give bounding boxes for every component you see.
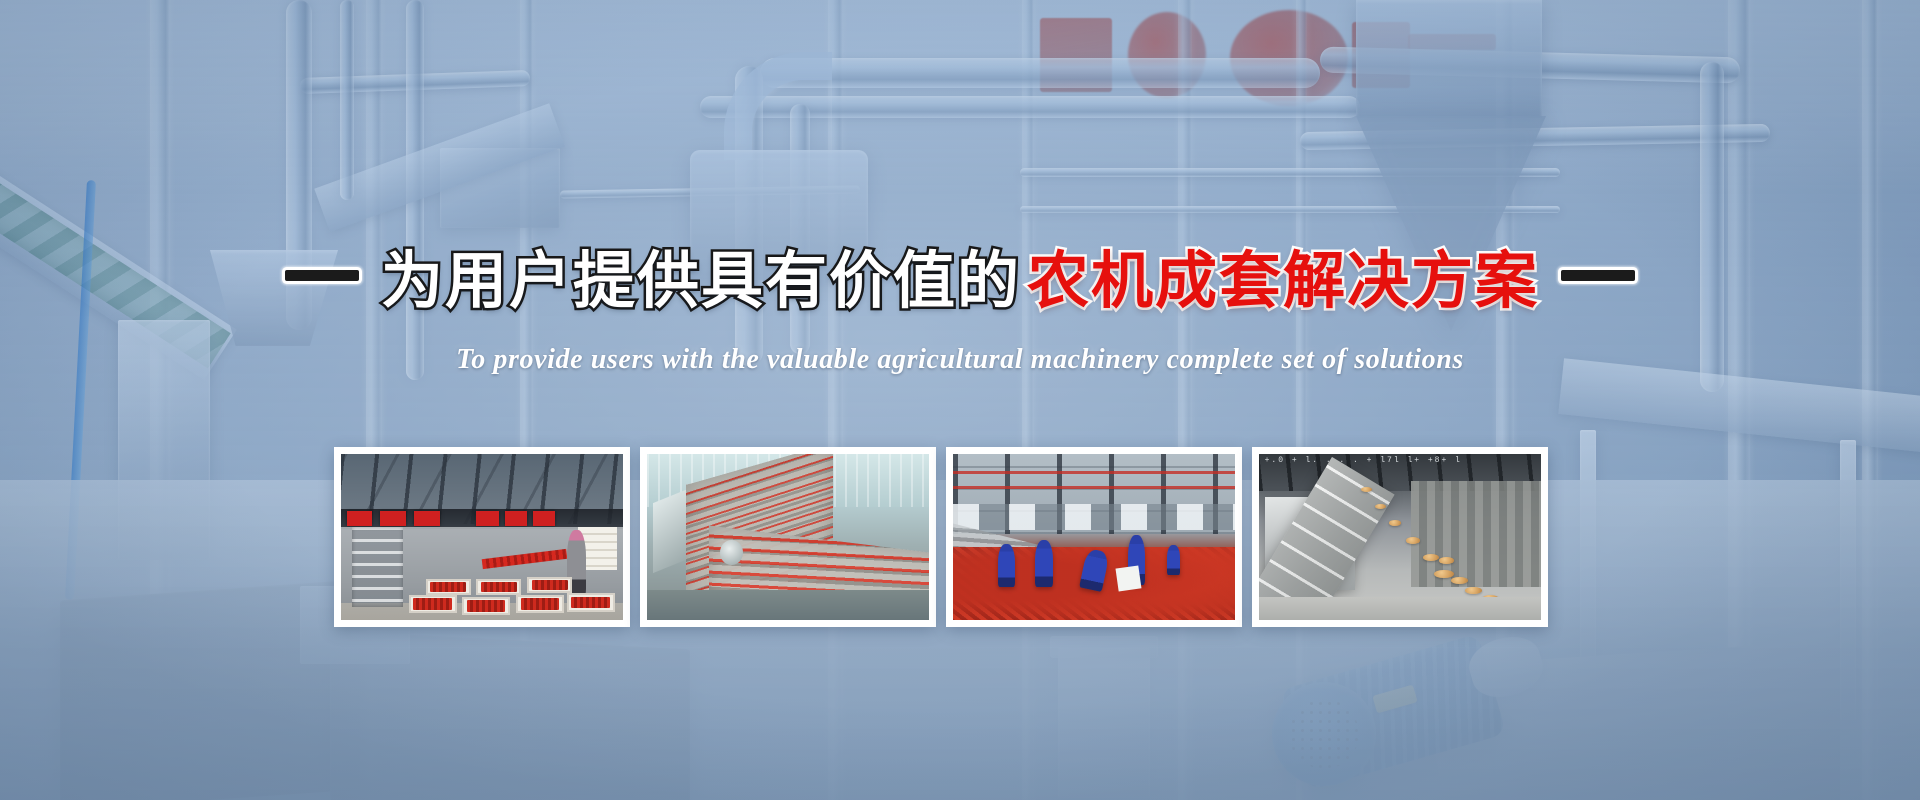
drive-motor: [720, 540, 743, 565]
thumbnail-4-image: +.0 + l. . . . + l7l l+ +8+ l: [1259, 454, 1541, 620]
headline-dash-left: [285, 270, 359, 281]
banner-headline: 为用户提供具有价值的农机成套解决方案: [0, 247, 1920, 313]
worker: [1167, 545, 1180, 575]
red-sign: [414, 511, 439, 526]
drying-tray: [462, 597, 510, 615]
red-sign: [380, 511, 405, 526]
drying-tray: [516, 595, 564, 613]
thumbnail-4-overlay-text: +.0 + l. . . . + l7l l+ +8+ l: [1265, 456, 1536, 465]
red-roof-beam: [953, 471, 1235, 474]
thumbnail-3[interactable]: [946, 447, 1242, 627]
floor: [1259, 597, 1541, 620]
headline-red-text: 农机成套解决方案: [1027, 251, 1539, 313]
warehouse-windows: [953, 504, 1235, 531]
thumbnail-1[interactable]: [334, 447, 630, 627]
thumbnail-4[interactable]: +.0 + l. . . . + l7l l+ +8+ l: [1252, 447, 1548, 627]
thumbnail-2[interactable]: [640, 447, 936, 627]
red-sign: [505, 511, 528, 526]
red-sign: [533, 511, 556, 526]
potato: [1465, 587, 1482, 594]
thumbnail-1-image: [341, 454, 623, 620]
thumbnail-strip: +.0 + l. . . . + l7l l+ +8+ l: [334, 447, 1548, 627]
collection-bag: [1115, 565, 1141, 591]
red-roof-beam: [953, 486, 1235, 489]
thumbnail-3-image: [953, 454, 1235, 620]
tray-rack: [352, 527, 403, 607]
potato: [1439, 557, 1453, 564]
worker: [1035, 540, 1053, 586]
corrugated-wall: [1411, 481, 1541, 587]
drying-tray: [476, 579, 521, 596]
drying-tray: [527, 577, 572, 594]
potato: [1375, 504, 1386, 509]
hero-banner: 为用户提供具有价值的农机成套解决方案 To provide users with…: [0, 0, 1920, 800]
drying-tray: [409, 595, 457, 613]
banner-content: 为用户提供具有价值的农机成套解决方案 To provide users with…: [0, 0, 1920, 800]
potato: [1406, 537, 1420, 544]
red-sign: [476, 511, 499, 526]
worker: [998, 544, 1015, 587]
drying-tray: [567, 593, 615, 611]
headline-dash-right: [1561, 270, 1635, 281]
drying-tray: [426, 579, 471, 596]
thumbnail-2-image: [647, 454, 929, 620]
potato: [1361, 487, 1372, 492]
potato: [1451, 577, 1468, 584]
red-sign: [347, 511, 372, 526]
potato: [1389, 520, 1402, 526]
banner-subtitle: To provide users with the valuable agric…: [0, 344, 1920, 376]
headline-white-text: 为用户提供具有价值的: [381, 251, 1021, 313]
floor: [647, 590, 929, 620]
